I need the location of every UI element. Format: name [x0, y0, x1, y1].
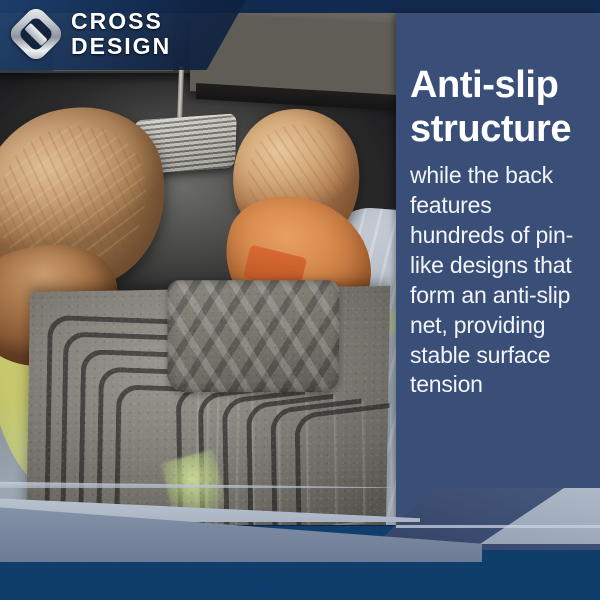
promo-image-canvas: Anti-slip structure while the back featu…	[0, 0, 600, 600]
product-photo	[0, 13, 400, 525]
headline-line-2: structure	[410, 107, 590, 151]
brand-name-line-1: CROSS	[71, 10, 171, 33]
body-copy: while the back features hundreds of pin-…	[410, 161, 590, 400]
rubber-floor-mat	[26, 286, 390, 525]
banner-seam-line	[396, 525, 600, 528]
mat-diamond-plate-heel-pad	[167, 280, 339, 392]
mat-chevron-grooves-right	[176, 357, 394, 525]
brand-name-line-2: DESIGN	[71, 35, 171, 58]
text-panel: Anti-slip structure while the back featu…	[396, 13, 600, 525]
brand-logo[interactable]: CROSS DESIGN	[10, 8, 171, 60]
headline-line-1: Anti-slip	[410, 64, 558, 106]
page-title: Anti-slip structure	[410, 63, 590, 151]
brand-name: CROSS DESIGN	[71, 10, 171, 58]
cross-design-diamond-logo-icon	[10, 8, 62, 60]
mat-chevron-grooves-left	[44, 315, 238, 525]
